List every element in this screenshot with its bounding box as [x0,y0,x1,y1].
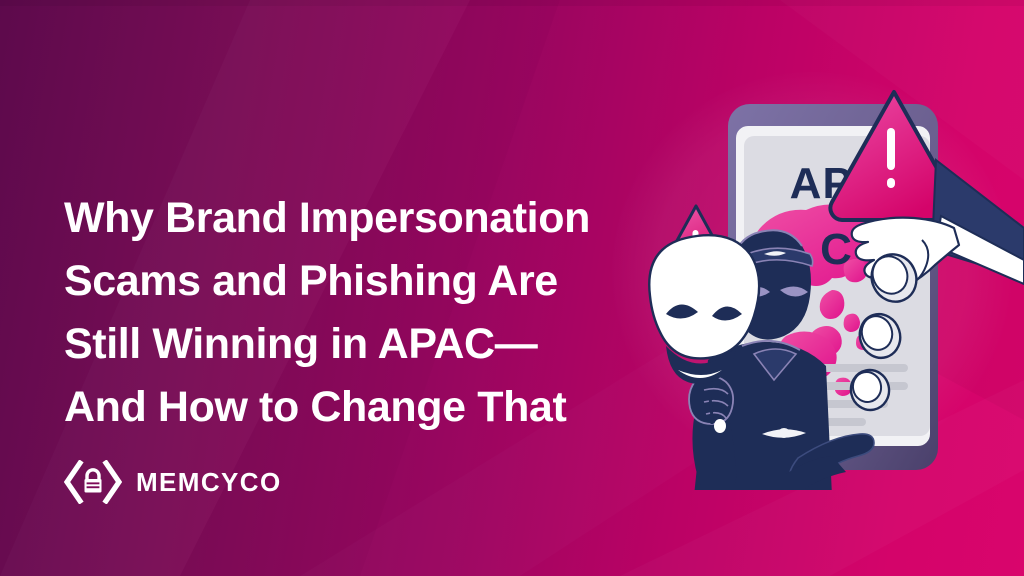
exclamation-bar [887,128,895,170]
banner-root: Why Brand Impersonation Scams and Phishi… [0,0,1024,576]
svg-text:C: C [820,225,852,274]
lock-in-angle-brackets-icon [64,460,122,504]
page-title: Why Brand Impersonation Scams and Phishi… [64,187,684,439]
brand-logo[interactable]: MEMCYCO [64,460,282,504]
brand-wordmark: MEMCYCO [136,467,282,498]
exclamation-dot [887,178,895,188]
apac-phishing-scam-illustration: APA C [636,78,1024,498]
